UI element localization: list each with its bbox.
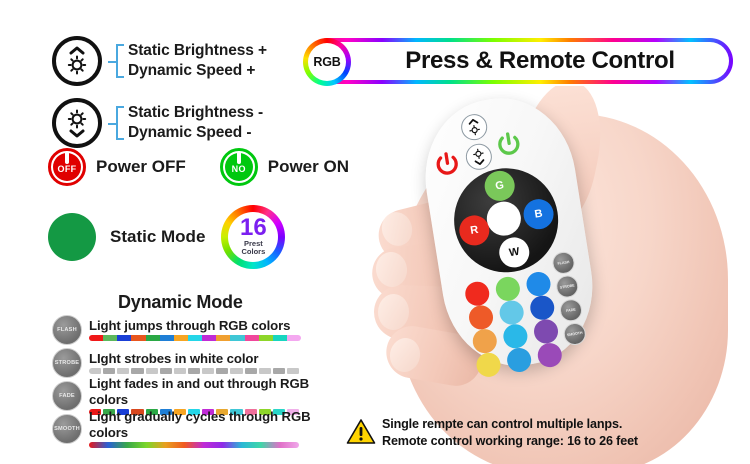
brightness-down-text: Static Brightness - Dynamic Speed -: [128, 103, 263, 144]
static-mode-color-dot: [48, 213, 96, 261]
power-off-label: Power OFF: [96, 157, 186, 177]
brightness-up-line2: Dynamic Speed +: [128, 61, 267, 81]
remote-color-button[interactable]: [532, 318, 559, 345]
remote-color-button[interactable]: [525, 270, 552, 297]
dynamic-mode-color-bar: [89, 368, 301, 374]
dynamic-mode-item: STROBELIght strobes in white color: [52, 346, 342, 379]
preset-colors-line2: Colors: [242, 248, 266, 257]
brightness-down-line1: Static Brightness -: [128, 103, 263, 123]
dynamic-mode-button-strobe[interactable]: STROBE: [52, 348, 82, 378]
dynamic-mode-desc-wrap: LIght strobes in white color: [89, 351, 342, 374]
dynamic-mode-color-bar: [89, 335, 301, 341]
dynamic-mode-button-fade[interactable]: FADE: [52, 381, 82, 411]
page-title: Press & Remote Control: [363, 47, 674, 75]
remote-red-label: R: [469, 224, 479, 237]
brightness-legend: Static Brightness + Dynamic Speed +: [52, 30, 312, 154]
static-mode-label: Static Mode: [110, 227, 205, 247]
brightness-up-icon: [52, 36, 102, 86]
remote-center-button[interactable]: [484, 199, 523, 238]
warning-line1: Single rempte can control multiple lanps…: [382, 416, 638, 433]
power-on-label: Power ON: [268, 157, 349, 177]
brightness-up-text: Static Brightness + Dynamic Speed +: [128, 41, 267, 82]
remote-white-label: W: [508, 246, 520, 259]
remote-color-button[interactable]: [471, 327, 498, 354]
preset-colors-badge: 16 Prest Colors: [221, 205, 285, 269]
warning-note: Single rempte can control multiple lanps…: [346, 416, 638, 449]
preset-colors-inner: 16 Prest Colors: [228, 212, 278, 262]
remote-power-on-button[interactable]: [494, 129, 524, 159]
remote-color-button[interactable]: [502, 323, 529, 350]
dynamic-mode-desc-wrap: Light jumps through RGB colors: [89, 318, 342, 341]
power-legend: OFF Power OFF NO Power ON: [48, 148, 349, 186]
dynamic-mode-desc-wrap: Light gradually cycles through RGB color…: [89, 409, 342, 447]
dynamic-mode-button-smooth[interactable]: SMOOTH: [52, 414, 82, 444]
power-off-stem: [65, 151, 69, 164]
brace-down: [108, 103, 124, 143]
dynamic-mode-list: FLASHLight jumps through RGB colorsSTROB…: [52, 313, 342, 445]
header-banner-inner: Press & Remote Control: [309, 42, 729, 80]
remote-mode-button-strobe[interactable]: STROBE: [555, 274, 580, 299]
dynamic-mode-item: FADELight fades in and out through RGB c…: [52, 379, 342, 412]
brightness-down-line2: Dynamic Speed -: [128, 123, 263, 143]
warning-text: Single rempte can control multiple lanps…: [382, 416, 638, 449]
brace-up: [108, 41, 124, 81]
warning-triangle-icon: [346, 418, 376, 445]
power-on-stem: [237, 151, 241, 164]
dynamic-mode-item: FLASHLight jumps through RGB colors: [52, 313, 342, 346]
dynamic-mode-description: Light fades in and out through RGB color…: [89, 376, 342, 406]
remote-mode-button-fade[interactable]: FADE: [558, 298, 583, 323]
remote-blue-button[interactable]: B: [521, 197, 555, 231]
remote-color-button[interactable]: [464, 280, 491, 307]
remote-color-button[interactable]: [529, 294, 556, 321]
brightness-up-row: Static Brightness + Dynamic Speed +: [52, 30, 312, 92]
dynamic-mode-button-flash[interactable]: FLASH: [52, 315, 82, 345]
power-off-icon: OFF: [48, 148, 86, 186]
remote-brightness-up-button[interactable]: [459, 112, 489, 142]
rgb-badge-label: RGB: [308, 43, 346, 81]
remote-mode-button-flash[interactable]: FLASH: [551, 250, 576, 275]
remote-green-label: G: [495, 179, 505, 192]
dynamic-mode-description: LIght strobes in white color: [89, 351, 342, 366]
remote-white-button[interactable]: W: [497, 235, 531, 269]
dynamic-mode-description: Light gradually cycles through RGB color…: [89, 409, 342, 439]
remote-color-button[interactable]: [494, 275, 521, 302]
header-banner: Press & Remote Control: [305, 38, 733, 84]
brightness-down-icon: [52, 98, 102, 148]
remote-blue-label: B: [534, 208, 544, 221]
brightness-down-row: Static Brightness - Dynamic Speed -: [52, 92, 312, 154]
remote-power-off-button[interactable]: [433, 149, 463, 179]
power-on-icon: NO: [220, 148, 258, 186]
dynamic-mode-color-bar: [89, 442, 299, 448]
dynamic-mode-title: Dynamic Mode: [118, 292, 243, 313]
warning-line2: Remote control working range: 16 to 26 f…: [382, 433, 638, 450]
remote-green-button[interactable]: G: [483, 169, 517, 203]
remote-color-button[interactable]: [498, 299, 525, 326]
preset-colors-number: 16: [240, 217, 267, 240]
static-mode-legend: Static Mode 16 Prest Colors: [48, 205, 285, 269]
brightness-up-line1: Static Brightness +: [128, 41, 267, 61]
dynamic-mode-item: SMOOTHLight gradually cycles through RGB…: [52, 412, 342, 445]
remote-rgbw-pad: G B R W: [447, 161, 566, 280]
remote-color-button[interactable]: [467, 304, 494, 331]
hand-holding-remote-photo: G B R W FLASHSTROBEFADESMOOTH: [370, 86, 750, 464]
dynamic-mode-description: Light jumps through RGB colors: [89, 318, 342, 333]
infographic-canvas: Press & Remote Control RGB: [0, 0, 750, 464]
remote-brightness-down-button[interactable]: [464, 142, 494, 172]
